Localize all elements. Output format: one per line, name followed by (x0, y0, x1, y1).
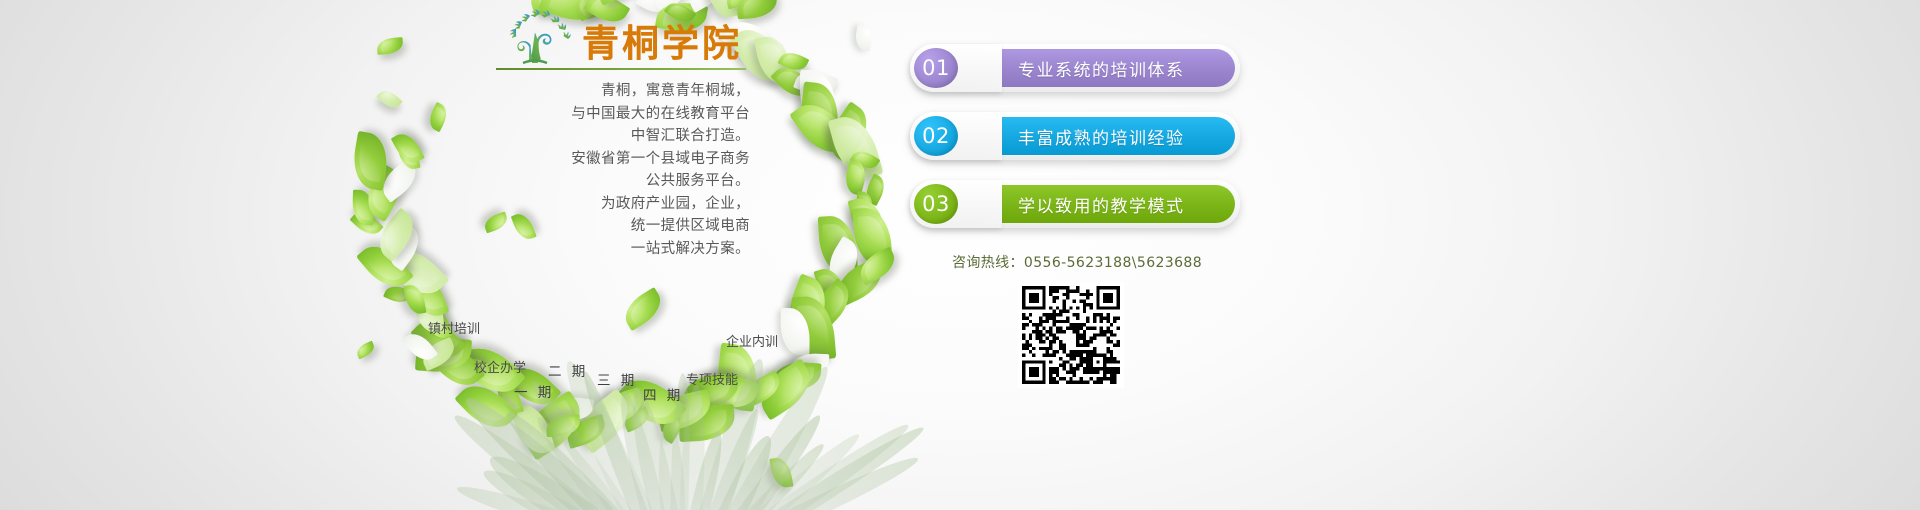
intro-line: 公共服务平台。 (470, 170, 750, 193)
stage-label-1: 一 期 (514, 381, 554, 401)
tree-logo-icon (496, 8, 574, 64)
banner-root: 青桐学院 青桐，寓意青年桐城，与中国最大的在线教育平台中智汇联合打造。安徽省第一… (0, 0, 1920, 510)
feature-label: 专业系统的培训体系 (1018, 56, 1185, 81)
brand-title: 青桐学院 (582, 25, 742, 64)
hotline-text: 咨询热线：0556-5623188\5623688 (912, 252, 1242, 272)
intro-line: 为政府产业园，企业， (470, 193, 750, 216)
qr-code[interactable] (1018, 282, 1124, 388)
brand-logo-block: 青桐学院 (496, 6, 758, 70)
stage-label-2: 二 期 (548, 360, 588, 380)
category-label-qiye: 企业内训 (726, 331, 778, 350)
intro-line: 一站式解决方案。 (470, 238, 750, 261)
intro-line: 青桐，寓意青年桐城， (470, 80, 750, 103)
leaf-shape (377, 86, 403, 112)
category-label-zhuanxiang: 专项技能 (686, 369, 738, 388)
feature-label: 丰富成熟的培训经验 (1018, 124, 1185, 149)
stage-label-3: 三 期 (597, 369, 637, 389)
leaf-shape (376, 37, 403, 55)
intro-line: 安徽省第一个县域电子商务 (470, 148, 750, 171)
feature-number: 02 (914, 116, 958, 156)
feature-badge[interactable]: 学以致用的教学模式03 (910, 180, 1240, 228)
category-label-xiaoqi: 校企办学 (474, 357, 526, 376)
leaf-shape (354, 341, 376, 360)
intro-line: 中智汇联合打造。 (470, 125, 750, 148)
stage-label-4: 四 期 (643, 384, 683, 404)
feature-badge-list: 专业系统的培训体系01丰富成熟的培训经验02学以致用的教学模式03 (910, 44, 1240, 248)
leaf-shape (854, 23, 874, 51)
brand-divider (496, 68, 746, 70)
feature-badge[interactable]: 丰富成熟的培训经验02 (910, 112, 1240, 160)
category-label-zhencun: 镇村培训 (428, 318, 480, 337)
intro-line: 与中国最大的在线教育平台 (470, 103, 750, 126)
feature-number: 01 (914, 48, 958, 88)
feature-label: 学以致用的教学模式 (1018, 192, 1185, 217)
intro-paragraph: 青桐，寓意青年桐城，与中国最大的在线教育平台中智汇联合打造。安徽省第一个县域电子… (470, 80, 750, 260)
feature-badge[interactable]: 专业系统的培训体系01 (910, 44, 1240, 92)
qr-code-image (1022, 286, 1120, 384)
intro-line: 统一提供区域电商 (470, 215, 750, 238)
leaf-shape (425, 102, 451, 133)
leaf-shape (619, 287, 669, 331)
feature-number: 03 (914, 184, 958, 224)
